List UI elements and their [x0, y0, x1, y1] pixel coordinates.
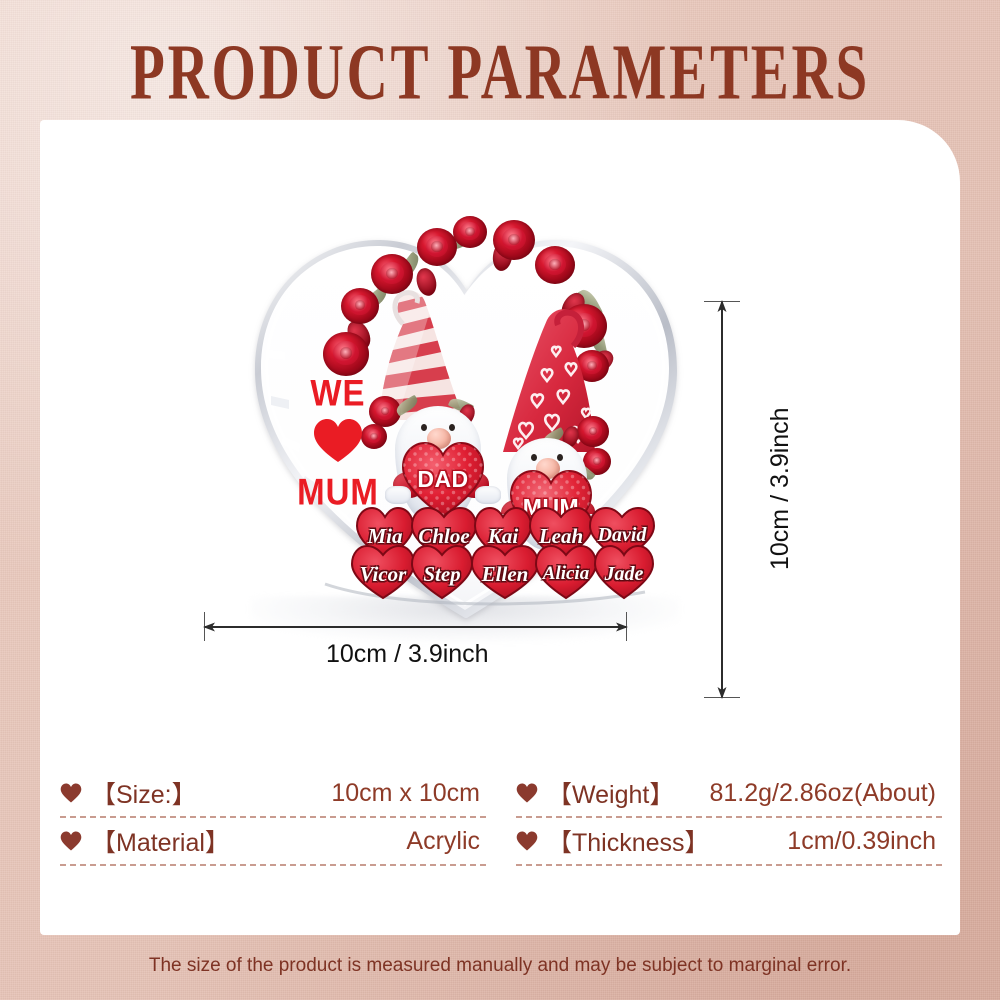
dimension-vertical-label: 10cm / 3.9inch [766, 407, 795, 570]
name-heart: Vicor [349, 544, 417, 600]
spec-cell-size: 【Size:】 10cm x 10cm [58, 770, 486, 818]
page-title: PRODUCT PARAMETERS [40, 33, 960, 112]
we-love-mum-slogan: WE MUM [286, 376, 390, 508]
divider [60, 864, 486, 866]
spec-cell-thickness: 【Thickness】 1cm/0.39inch [514, 818, 942, 866]
spec-value: 81.2g/2.86oz(About) [709, 779, 942, 808]
name-heart: Step [409, 544, 475, 600]
spec-value: 10cm x 10cm [331, 779, 486, 808]
spec-value: Acrylic [406, 827, 486, 856]
plaque-artwork: DAD [245, 200, 685, 630]
spec-label: 【Size:】 [91, 775, 197, 811]
heart-icon [516, 831, 538, 851]
spec-label: 【Weight】 [547, 775, 674, 811]
heart-icon [60, 783, 82, 803]
heart-icon [516, 783, 538, 803]
spec-cell-weight: 【Weight】 81.2g/2.86oz(About) [514, 770, 942, 818]
product-photo: DAD [190, 200, 750, 720]
spec-row: 【Material】 Acrylic [60, 818, 486, 864]
content-card: DAD [40, 120, 960, 935]
footnote-disclaimer: The size of the product is measured manu… [0, 955, 1000, 977]
specifications-table: 【Size:】 10cm x 10cm 【Weight】 81.2g/2.86o… [58, 770, 942, 866]
product-parameters-page: PRODUCT PARAMETERS [0, 0, 1000, 1000]
slogan-we: WE [286, 374, 390, 411]
divider [516, 864, 942, 866]
heart-icon [313, 418, 363, 463]
spec-label: 【Thickness】 [547, 823, 710, 859]
name-hearts-row-2: Vicor Step Ellen [349, 544, 655, 600]
acrylic-heart-plaque: DAD [245, 200, 685, 630]
spec-row: 【Thickness】 1cm/0.39inch [516, 818, 942, 864]
spec-value: 1cm/0.39inch [787, 827, 942, 856]
spec-label: 【Material】 [91, 823, 230, 859]
spec-row: 【Size:】 10cm x 10cm [60, 770, 486, 816]
name-heart: Ellen [469, 544, 541, 600]
dimension-horizontal-label: 10cm / 3.9inch [326, 640, 489, 669]
spec-cell-material: 【Material】 Acrylic [58, 818, 486, 866]
gnome-dad-heart-label: DAD [417, 466, 468, 493]
spec-row: 【Weight】 81.2g/2.86oz(About) [516, 770, 942, 816]
slogan-mum: MUM [286, 473, 390, 510]
name-heart: Jade [593, 544, 655, 600]
heart-icon [60, 831, 82, 851]
name-heart: Alicia [533, 544, 599, 600]
